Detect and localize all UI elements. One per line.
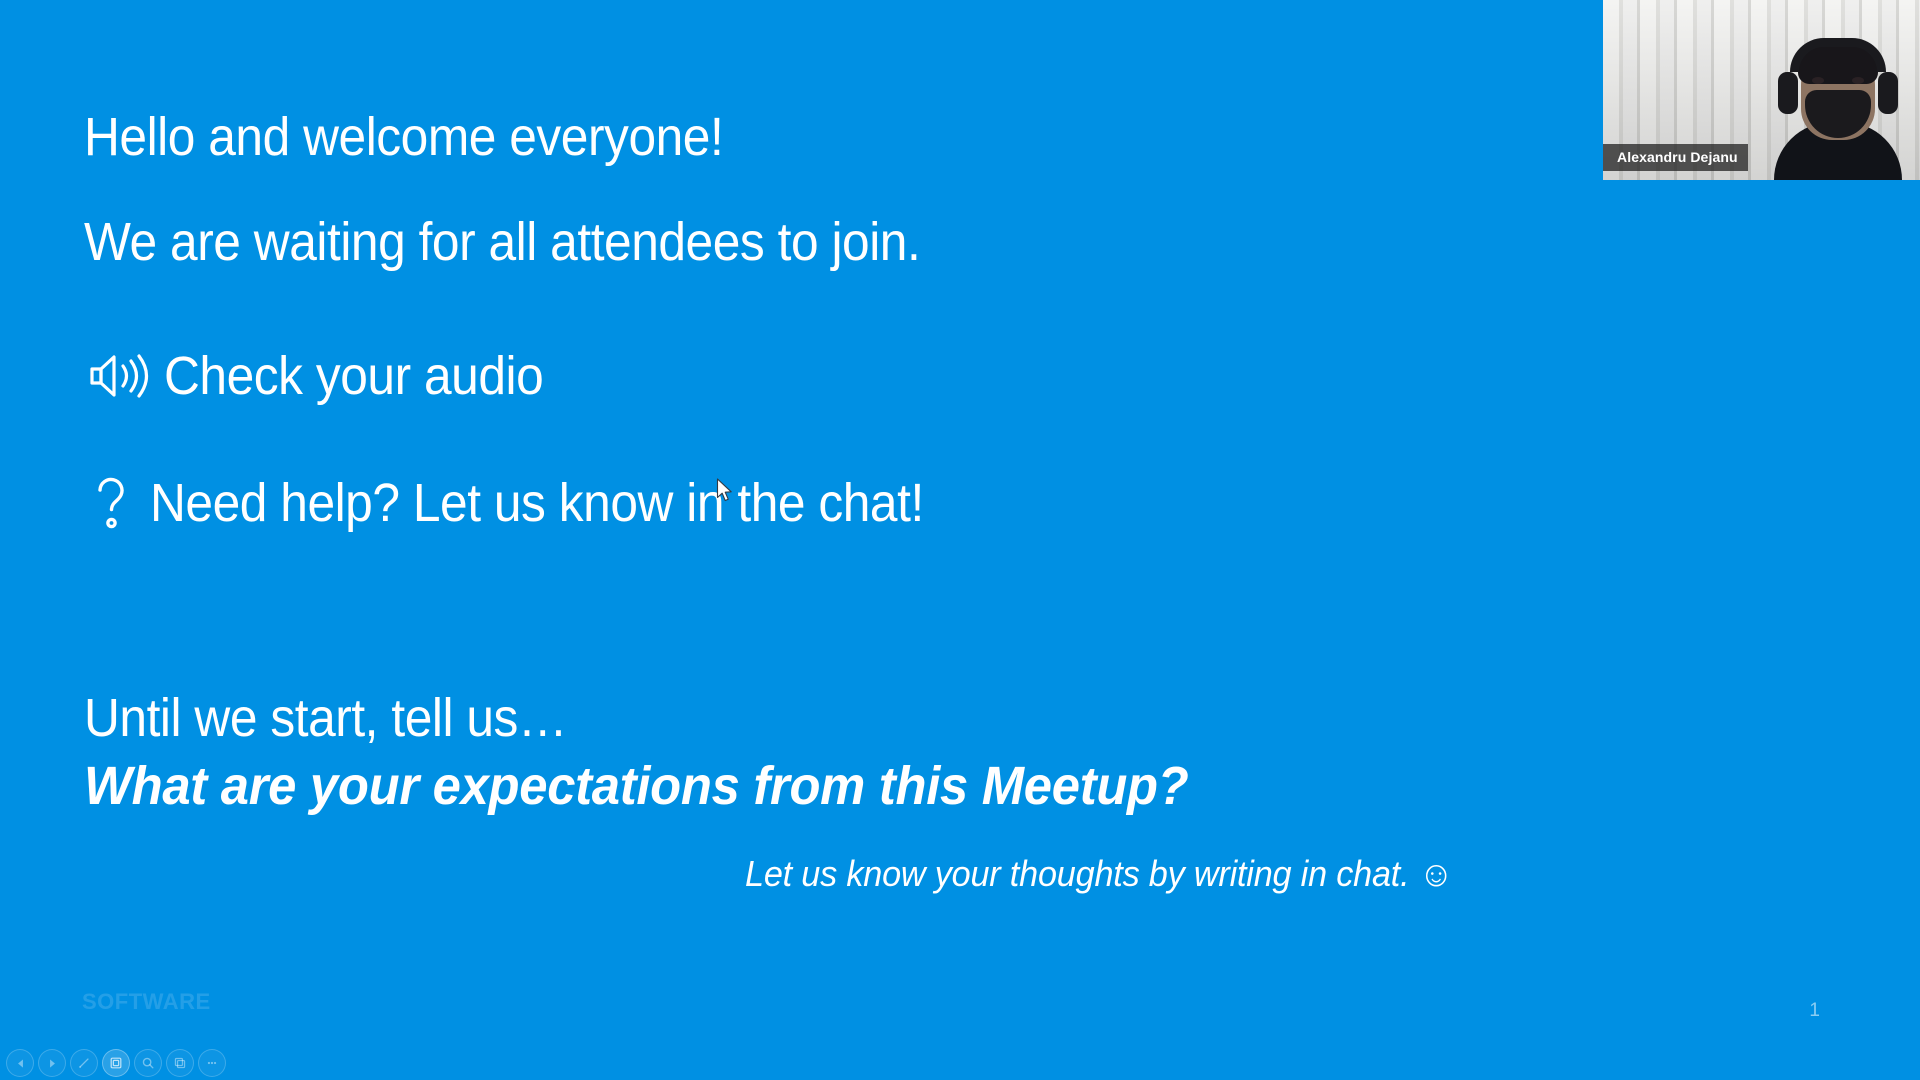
previous-slide-button[interactable] <box>6 1049 34 1077</box>
magnifier-icon[interactable] <box>134 1049 162 1077</box>
presentation-viewer-toolbar <box>0 1046 232 1080</box>
slide-page-number: 1 <box>1809 1000 1820 1022</box>
next-slide-button[interactable] <box>38 1049 66 1077</box>
slide-waiting-text: We are waiting for all attendees to join… <box>84 215 920 269</box>
participant-eye-left <box>1812 77 1824 84</box>
participant-name-label: Alexandru Dejanu <box>1603 144 1748 171</box>
bullet-check-audio-label: Check your audio <box>164 345 543 407</box>
headphone-earcup-right <box>1878 72 1898 114</box>
slide-greeting-text: Hello and welcome everyone! <box>84 110 723 164</box>
participant-video-tile[interactable]: Alexandru Dejanu <box>1600 0 1920 183</box>
headphone-earcup-left <box>1778 72 1798 114</box>
pen-icon[interactable] <box>70 1049 98 1077</box>
slide-until-text: Until we start, tell us… <box>84 687 567 749</box>
ellipsis-icon[interactable] <box>198 1049 226 1077</box>
presentation-screen: Hello and welcome everyone! We are waiti… <box>0 0 1920 1080</box>
bullet-check-audio: Check your audio <box>88 345 576 407</box>
fit-to-screen-button[interactable] <box>102 1049 130 1077</box>
question-mark-icon <box>92 473 132 533</box>
bullet-need-help-label: Need help? Let us know in the chat! <box>150 472 924 534</box>
headphones-icon <box>1790 38 1886 72</box>
speaker-icon <box>88 350 150 402</box>
bullet-need-help: Need help? Let us know in the chat! <box>88 472 991 534</box>
slide-closing-text: Let us know your thoughts by writing in … <box>745 853 1453 895</box>
copy-icon[interactable] <box>166 1049 194 1077</box>
participant-avatar <box>1758 30 1918 180</box>
participant-eye-right <box>1852 77 1864 84</box>
slide-question-text: What are your expectations from this Mee… <box>84 755 1189 817</box>
slide-watermark: SOFTWARE <box>82 989 211 1015</box>
